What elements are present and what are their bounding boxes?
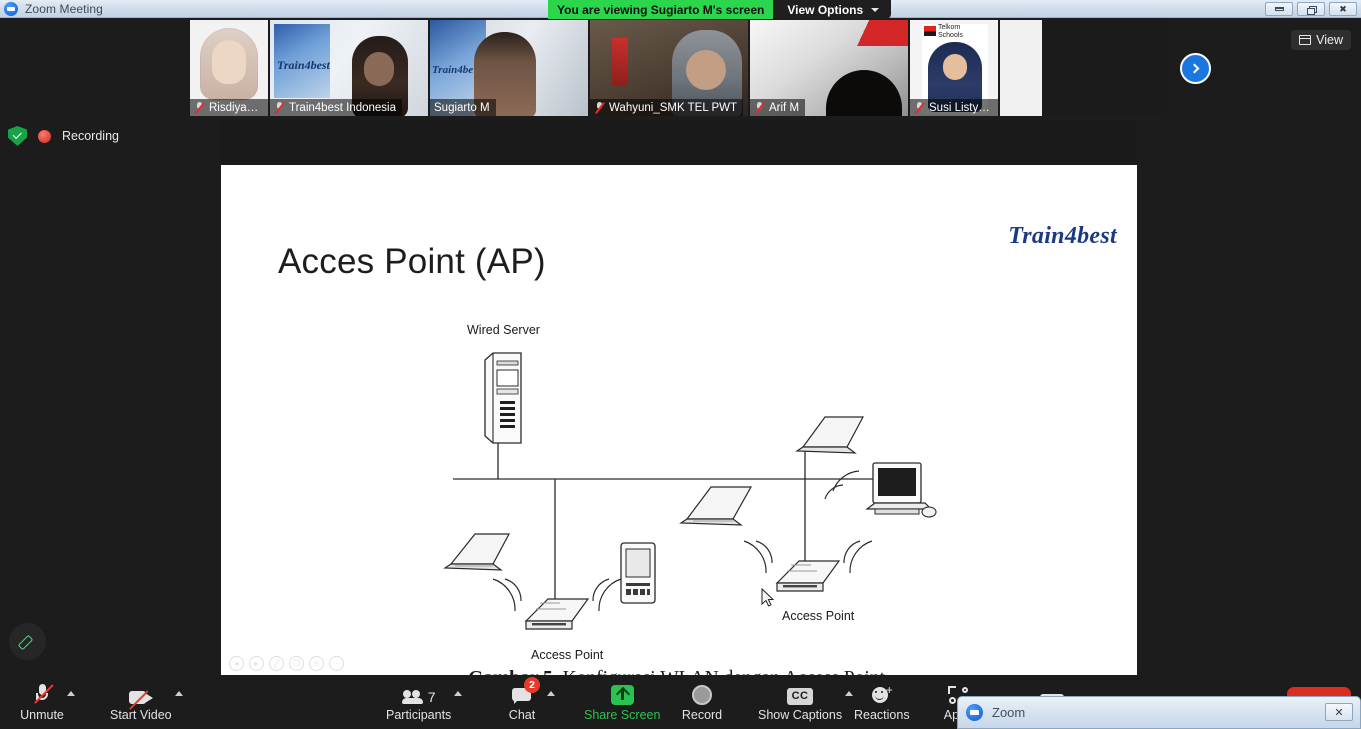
figure-caption: Gambar 5. Konfigurasi WLAN dengan Access… <box>221 668 1137 675</box>
chat-bubble-icon: 2 <box>512 683 532 705</box>
camera-off-icon <box>129 683 153 705</box>
presentation-slide: Train4best Acces Point (AP) <box>221 165 1137 675</box>
more-icon[interactable]: ··· <box>329 656 344 671</box>
laptop-left-icon <box>445 534 509 570</box>
toolbar-start-video-options-caret[interactable] <box>175 691 183 696</box>
shared-screen-letterbox <box>221 120 1137 165</box>
toolbar-start-video-button[interactable]: Start Video <box>104 675 178 729</box>
zoom-logo-icon <box>4 2 18 16</box>
participant-count: 7 <box>428 689 436 705</box>
participant-name-bar: Sugiarto M <box>430 99 496 116</box>
wlan-network-diagram: Wired Server Access Point <box>221 165 1137 675</box>
secondary-window-title: Zoom <box>992 705 1025 720</box>
viewing-screen-label: You are viewing Sugiarto M's screen <box>548 0 773 19</box>
toolbar-share-screen-label: Share Screen <box>584 708 660 722</box>
participant-name-bar: Wahyuni_SMK TEL PWT <box>590 99 743 116</box>
access-point-left-icon <box>526 599 588 629</box>
next-page-icon[interactable]: ▸ <box>249 656 264 671</box>
pen-icon <box>20 634 35 649</box>
view-button-label: View <box>1316 33 1343 47</box>
chevron-down-icon <box>871 8 879 12</box>
previous-page-icon[interactable]: ◂ <box>229 656 244 671</box>
chevron-right-icon <box>1190 64 1200 74</box>
participant-tile[interactable]: Arif M <box>750 20 908 116</box>
access-point-left-label: Access Point <box>531 648 604 662</box>
toolbar-participants-button[interactable]: 7Participants <box>380 675 457 729</box>
participant-name: Susi Listyarini <box>929 102 992 114</box>
microphone-muted-icon <box>594 101 605 114</box>
toolbar-participants-options-caret[interactable] <box>454 691 462 696</box>
participant-tile[interactable]: Sugiarto M <box>430 20 588 116</box>
participant-filmstrip[interactable]: Risdiyanti _Train4bestTrain4best Indones… <box>190 20 1166 116</box>
access-point-right-icon <box>777 561 839 591</box>
participant-name: Risdiyanti _Train4best <box>209 102 262 114</box>
zoom-meeting-window: Zoom Meeting ✖ You are viewing Sugiarto … <box>0 0 1361 729</box>
participant-tile[interactable]: Risdiyanti _Train4best <box>190 20 268 116</box>
grid-icon <box>1299 35 1311 45</box>
zoom-logo-icon <box>966 704 983 721</box>
access-point-right-label: Access Point <box>782 609 855 623</box>
restore-button[interactable] <box>1297 2 1325 16</box>
window-title: Zoom Meeting <box>25 2 103 16</box>
participant-name: Arif M <box>769 102 799 114</box>
share-screen-icon <box>611 683 634 705</box>
save-icon[interactable]: ❐ <box>289 656 304 671</box>
toolbar-participants-label: Participants <box>386 708 451 722</box>
figure-caption-number: Gambar 5. <box>468 668 558 675</box>
chat-unread-badge: 2 <box>524 677 540 693</box>
microphone-muted-icon <box>274 101 285 114</box>
participant-name: Sugiarto M <box>434 102 490 114</box>
pen-icon[interactable]: ╱ <box>269 656 284 671</box>
secondary-window-close-button[interactable]: ✕ <box>1325 703 1353 721</box>
smiley-plus-icon: + <box>872 683 892 705</box>
view-options-label: View Options <box>787 3 863 17</box>
participant-tile[interactable]: TelkomSchoolsSusi Listyarini <box>910 20 998 116</box>
filmstrip-next-button[interactable] <box>1180 53 1211 84</box>
recording-dot-icon <box>38 130 51 143</box>
toolbar-reactions-button[interactable]: +Reactions <box>848 675 916 729</box>
toolbar-share-screen-button[interactable]: Share Screen <box>578 675 666 729</box>
toolbar-chat-button[interactable]: 2Chat <box>494 675 550 729</box>
recording-label: Recording <box>62 129 119 143</box>
figure-caption-text: Konfigurasi WLAN dengan Access Point. <box>558 668 890 675</box>
mouse-cursor <box>762 589 773 606</box>
wifi-waves-right <box>744 471 872 573</box>
record-circle-icon <box>692 683 712 705</box>
toolbar-reactions-label: Reactions <box>854 708 910 722</box>
shield-check-icon[interactable] <box>8 126 27 146</box>
closed-caption-icon: CC <box>787 683 813 705</box>
participant-name-bar: Risdiyanti _Train4best <box>190 99 268 116</box>
participant-name-bar: Susi Listyarini <box>910 99 998 116</box>
search-icon[interactable]: ⌾ <box>309 656 324 671</box>
toolbar-unmute-label: Unmute <box>20 708 64 722</box>
pda-icon <box>621 543 655 603</box>
toolbar-chat-label: Chat <box>509 708 535 722</box>
microphone-muted-icon <box>754 101 765 114</box>
desktop-computer-icon <box>867 463 936 517</box>
wired-server-label: Wired Server <box>467 323 540 337</box>
participant-tile-partial[interactable] <box>1000 20 1042 116</box>
participant-name-bar: Train4best Indonesia <box>270 99 402 116</box>
participant-name-bar: Arif M <box>750 99 805 116</box>
minimize-button[interactable] <box>1265 2 1293 16</box>
annotate-button[interactable] <box>9 623 46 660</box>
toolbar-unmute-button[interactable]: Unmute <box>14 675 70 729</box>
toolbar-show-captions-label: Show Captions <box>758 708 842 722</box>
participant-name: Train4best Indonesia <box>289 102 396 114</box>
participant-tile[interactable]: Train4best Indonesia <box>270 20 428 116</box>
toolbar-record-label: Record <box>682 708 722 722</box>
participant-tile[interactable]: Wahyuni_SMK TEL PWT <box>590 20 748 116</box>
secondary-zoom-window[interactable]: Zoom ✕ <box>957 696 1361 729</box>
toolbar-show-captions-button[interactable]: CCShow Captions <box>752 675 848 729</box>
toolbar-record-button[interactable]: Record <box>674 675 730 729</box>
view-layout-button[interactable]: View <box>1291 30 1351 50</box>
toolbar-start-video-label: Start Video <box>110 708 172 722</box>
microphone-muted-icon <box>34 683 50 705</box>
microphone-muted-icon <box>914 101 925 114</box>
document-viewer-controls[interactable]: ◂▸╱❐⌾··· <box>229 656 344 671</box>
toolbar-unmute-options-caret[interactable] <box>67 691 75 696</box>
shared-screen-area[interactable]: Train4best Acces Point (AP) <box>221 120 1137 675</box>
laptop-topright-icon <box>797 417 863 453</box>
laptop-center-icon <box>681 487 751 525</box>
microphone-muted-icon <box>194 101 205 114</box>
close-button[interactable]: ✖ <box>1329 2 1357 16</box>
screen-share-banner: You are viewing Sugiarto M's screen View… <box>548 0 891 19</box>
wired-server-icon <box>485 353 521 443</box>
participant-name: Wahyuni_SMK TEL PWT <box>609 102 737 114</box>
view-options-button[interactable]: View Options <box>773 0 891 19</box>
people-icon: 7 <box>402 683 436 705</box>
window-controls: ✖ <box>1265 2 1357 16</box>
toolbar-chat-options-caret[interactable] <box>547 691 555 696</box>
meeting-status-rail: Recording <box>8 126 119 146</box>
